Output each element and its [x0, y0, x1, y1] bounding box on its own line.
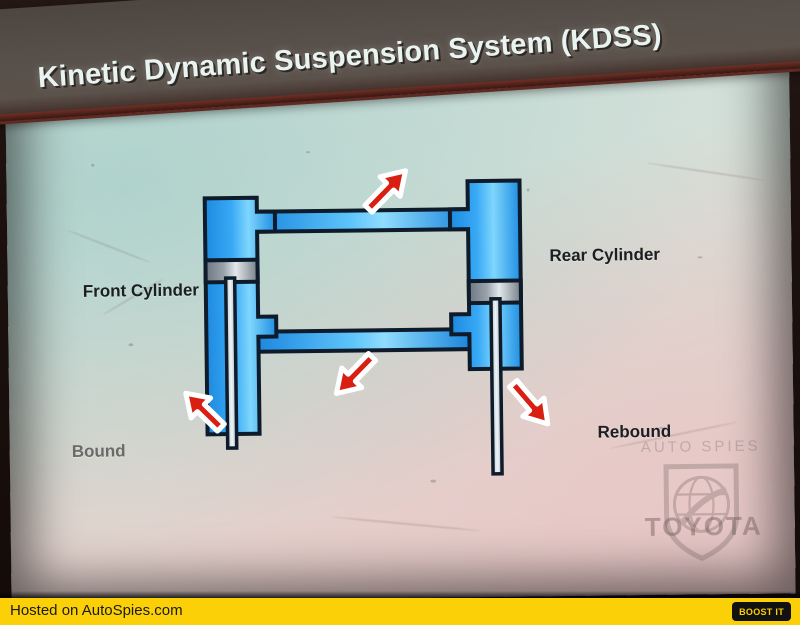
front-cylinder-body: [205, 198, 278, 435]
upper-hydraulic-line: [254, 209, 469, 232]
boost-it-label: BOOST IT: [739, 607, 784, 617]
auto-spies-watermark: AUTO SPIES: [626, 437, 778, 571]
lower-line-flow-arrow: [326, 347, 382, 403]
lower-hydraulic-line: [255, 329, 470, 352]
label-front-cylinder: Front Cylinder: [83, 280, 199, 301]
rear-piston-rod: [491, 299, 502, 474]
hosted-on-text: Hosted on AutoSpies.com: [10, 602, 183, 619]
footer-bar: Hosted on AutoSpies.com BOOST IT: [0, 598, 800, 625]
boost-it-button[interactable]: BOOST IT: [732, 602, 791, 621]
shield-globe-icon: [626, 437, 778, 571]
screenshot-root: Kinetic Dynamic Suspension System (KDSS): [0, 0, 800, 625]
projected-slide: Kinetic Dynamic Suspension System (KDSS): [4, 5, 795, 603]
watermark-text: AUTO SPIES: [626, 437, 776, 456]
footer-shadow: [0, 591, 800, 598]
front-piston-rod: [226, 278, 237, 448]
rebound-motion-arrow: [503, 375, 559, 433]
label-bound: Bound: [72, 441, 126, 462]
label-rear-cylinder: Rear Cylinder: [549, 245, 660, 266]
